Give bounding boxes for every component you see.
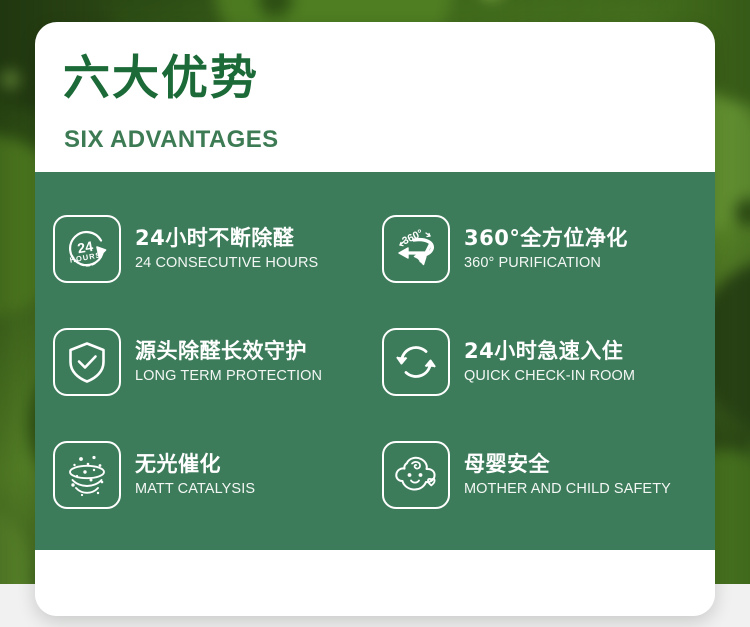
page-root: 六大优势 SIX ADVANTAGES 24 HOURS xyxy=(0,0,750,627)
card-header: 六大优势 SIX ADVANTAGES xyxy=(35,22,715,172)
feature-text: 24小时急速入住 QUICK CHECK-IN ROOM xyxy=(464,339,635,385)
24-hours-clock-icon: 24 HOURS xyxy=(53,215,121,283)
feature-title-cn: 24小时急速入住 xyxy=(464,339,635,364)
feature-title-en: QUICK CHECK-IN ROOM xyxy=(464,367,635,385)
feature-item-quick-check-in[interactable]: 24小时急速入住 QUICK CHECK-IN ROOM xyxy=(382,307,701,416)
feature-item-360-purification[interactable]: 360° 360°全方位净化 360° PURIFICATION xyxy=(382,194,701,303)
feature-grid: 24 HOURS 24小时不断除醛 24 CONSECUTIVE HOURS xyxy=(53,194,701,530)
360-rotation-arrows-icon: 360° xyxy=(382,215,450,283)
feature-title-en: MOTHER AND CHILD SAFETY xyxy=(464,480,671,498)
feature-text: 无光催化 MATT CATALYSIS xyxy=(135,452,255,498)
page-title-cn: 六大优势 xyxy=(63,52,259,106)
feature-title-cn: 母婴安全 xyxy=(464,452,671,477)
particle-ellipse-icon xyxy=(53,441,121,509)
feature-title-en: MATT CATALYSIS xyxy=(135,480,255,498)
features-panel: 24 HOURS 24小时不断除醛 24 CONSECUTIVE HOURS xyxy=(35,172,715,550)
shield-check-icon xyxy=(53,328,121,396)
feature-text: 24小时不断除醛 24 CONSECUTIVE HOURS xyxy=(135,226,318,272)
refresh-cycle-arrows-icon xyxy=(382,328,450,396)
feature-text: 360°全方位净化 360° PURIFICATION xyxy=(464,226,628,272)
feature-title-cn: 360°全方位净化 xyxy=(464,226,628,251)
feature-text: 源头除醛长效守护 LONG TERM PROTECTION xyxy=(135,339,322,385)
feature-item-24-hours[interactable]: 24 HOURS 24小时不断除醛 24 CONSECUTIVE HOURS xyxy=(53,194,372,303)
advantages-card: 六大优势 SIX ADVANTAGES 24 HOURS xyxy=(35,22,715,616)
feature-title-cn: 24小时不断除醛 xyxy=(135,226,318,251)
svg-text:360°: 360° xyxy=(400,227,425,247)
page-title-en: SIX ADVANTAGES xyxy=(64,126,279,154)
feature-title-en: 24 CONSECUTIVE HOURS xyxy=(135,254,318,272)
feature-item-matt-catalysis[interactable]: 无光催化 MATT CATALYSIS xyxy=(53,421,372,530)
feature-title-cn: 无光催化 xyxy=(135,452,255,477)
baby-face-heart-icon xyxy=(382,441,450,509)
feature-item-long-term-protection[interactable]: 源头除醛长效守护 LONG TERM PROTECTION xyxy=(53,307,372,416)
feature-title-en: LONG TERM PROTECTION xyxy=(135,367,322,385)
card-footer xyxy=(35,550,715,616)
feature-item-mother-child-safety[interactable]: 母婴安全 MOTHER AND CHILD SAFETY xyxy=(382,421,701,530)
feature-title-cn: 源头除醛长效守护 xyxy=(135,339,322,364)
feature-title-en: 360° PURIFICATION xyxy=(464,254,628,272)
feature-text: 母婴安全 MOTHER AND CHILD SAFETY xyxy=(464,452,671,498)
